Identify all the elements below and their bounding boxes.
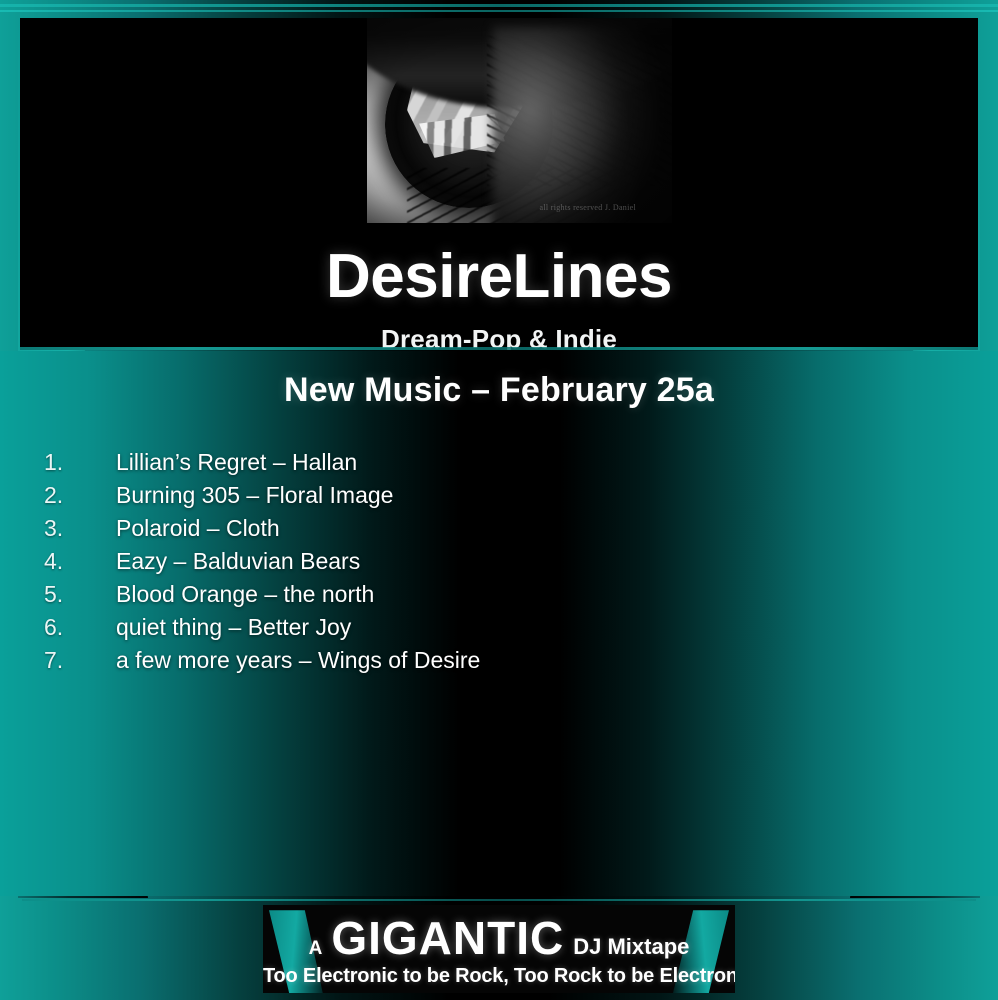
track-number: 6.	[44, 611, 116, 644]
track-title: Polaroid – Cloth	[116, 512, 280, 545]
flyer-poster: all rights reserved J. Daniel DesireLine…	[0, 0, 998, 1000]
footer-suffix: DJ Mixtape	[573, 934, 689, 960]
page-subtitle: Dream-Pop & Indie	[20, 324, 978, 350]
footer-prefix: A	[309, 938, 323, 960]
footer-brand-line: A GIGANTIC DJ Mixtape	[263, 915, 735, 961]
track-number: 1.	[44, 446, 116, 479]
list-item: 5. Blood Orange – the north	[44, 578, 480, 611]
track-title: Blood Orange – the north	[116, 578, 374, 611]
eye-watermark: all rights reserved J. Daniel	[540, 203, 636, 213]
footer-brand: GIGANTIC	[331, 915, 564, 961]
body-panel: New Music – February 25a 1. Lillian’s Re…	[0, 351, 998, 896]
footer-banner: A GIGANTIC DJ Mixtape Too Electronic to …	[263, 905, 735, 993]
list-item: 6. quiet thing – Better Joy	[44, 611, 480, 644]
track-number: 2.	[44, 479, 116, 512]
track-title: Burning 305 – Floral Image	[116, 479, 393, 512]
footer-divider	[22, 899, 976, 901]
track-title: quiet thing – Better Joy	[116, 611, 351, 644]
track-number: 4.	[44, 545, 116, 578]
eye-photo: all rights reserved J. Daniel	[367, 18, 672, 223]
list-item: 2. Burning 305 – Floral Image	[44, 479, 480, 512]
list-item: 7. a few more years – Wings of Desire	[44, 644, 480, 677]
track-number: 7.	[44, 644, 116, 677]
track-title: Eazy – Balduvian Bears	[116, 545, 360, 578]
list-item: 3. Polaroid – Cloth	[44, 512, 480, 545]
top-accent-rule	[0, 4, 998, 7]
header-panel: all rights reserved J. Daniel DesireLine…	[20, 18, 978, 350]
track-number: 3.	[44, 512, 116, 545]
list-item: 4. Eazy – Balduvian Bears	[44, 545, 480, 578]
eye-vignette	[367, 18, 672, 223]
footer-tagline: Too Electronic to be Rock, Too Rock to b…	[263, 965, 735, 988]
tracklist: 1. Lillian’s Regret – Hallan 2. Burning …	[44, 446, 480, 677]
track-title: Lillian’s Regret – Hallan	[116, 446, 357, 479]
top-accent-rule-secondary	[0, 10, 998, 12]
list-item: 1. Lillian’s Regret – Hallan	[44, 446, 480, 479]
track-number: 5.	[44, 578, 116, 611]
page-title: DesireLines	[20, 246, 978, 308]
section-heading: New Music – February 25a	[0, 371, 998, 410]
track-title: a few more years – Wings of Desire	[116, 644, 480, 677]
